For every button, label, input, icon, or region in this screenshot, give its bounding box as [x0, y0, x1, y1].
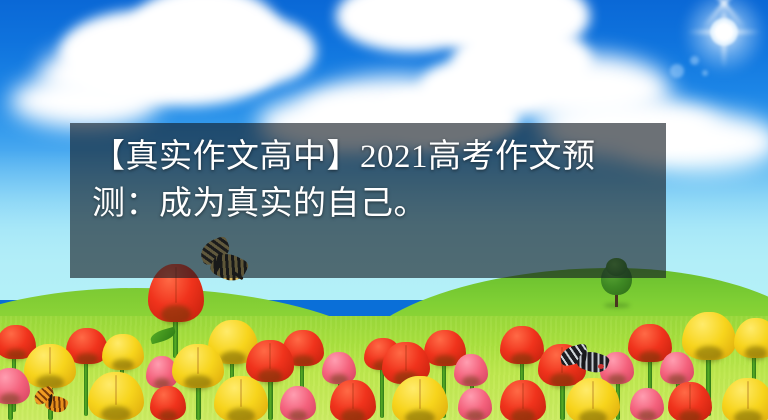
caption-text: 【真实作文高中】2021高考作文预测：成为真实的自己。	[92, 134, 648, 228]
image-canvas: 【真实作文高中】2021高考作文预测：成为真实的自己。	[0, 0, 768, 420]
orange-butterfly	[34, 386, 70, 414]
dark-spotted-butterfly	[558, 338, 614, 378]
sun-flare-icon	[668, 0, 768, 100]
